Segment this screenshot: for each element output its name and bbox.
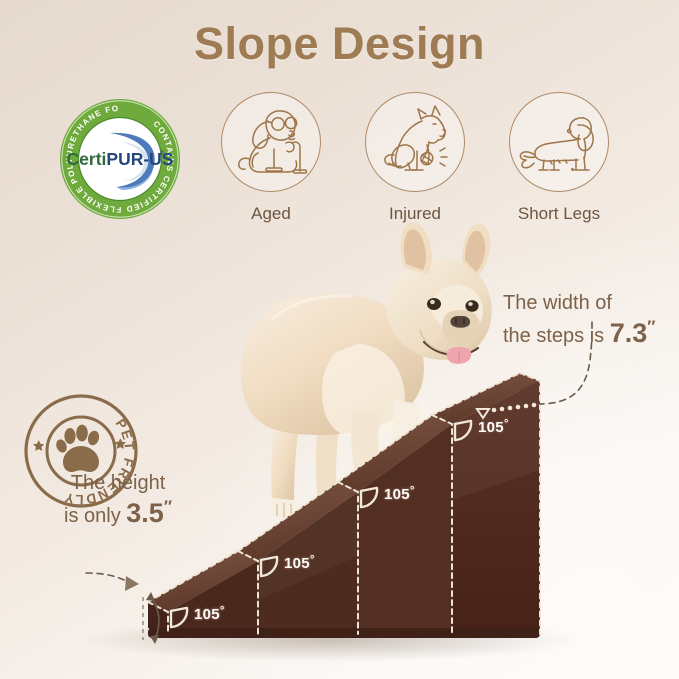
paw-print-icon: [54, 425, 100, 472]
feature-short-legs: Short Legs: [498, 92, 620, 224]
french-bulldog-photo: [241, 222, 492, 518]
feature-label: Injured: [354, 204, 476, 224]
angle-label-step3: 105°: [384, 485, 415, 503]
feature-icons-row: Aged: [210, 92, 620, 224]
height-arrow-up: [146, 592, 155, 601]
height-arrow-down: [150, 635, 159, 644]
feature-injured: Injured: [354, 92, 476, 224]
dachshund-short-legs-icon: [509, 92, 609, 192]
angle-label-step2: 105°: [284, 554, 315, 572]
width-callout: The width of the steps is 7.3″: [503, 290, 679, 352]
height-leader-arrow: [125, 576, 139, 591]
dog-with-bandaged-paw-icon: [365, 92, 465, 192]
infographic-canvas: Slope Design CONTAINS CERTIFIED FLEXIBLE…: [0, 0, 679, 679]
feature-label: Short Legs: [498, 204, 620, 224]
dog-with-glasses-and-cane-icon: [221, 92, 321, 192]
svg-text:®: ®: [160, 150, 165, 157]
step-width-marker: [477, 403, 536, 418]
width-callout-line1: The width of: [503, 290, 679, 316]
angle-label-step4: 105°: [478, 418, 509, 436]
height-callout: The height is only 3.5″: [28, 470, 208, 532]
height-measure-arc: [150, 596, 159, 640]
height-callout-line1: The height: [28, 470, 208, 496]
svg-text:CertiPUR-US: CertiPUR-US: [67, 149, 174, 169]
angle-label-step1: 105°: [194, 605, 225, 623]
height-callout-line2: is only 3.5″: [28, 496, 208, 532]
width-callout-line2: the steps is 7.3″: [503, 316, 679, 352]
product-shadow: [80, 618, 580, 662]
feature-label: Aged: [210, 204, 332, 224]
feature-aged: Aged: [210, 92, 332, 224]
height-leader-line: [86, 573, 130, 583]
certipur-us-badge: CONTAINS CERTIFIED FLEXIBLE POLYURETHANE…: [58, 97, 182, 221]
page-title: Slope Design: [0, 18, 679, 70]
angle-arc-markers: [171, 421, 471, 627]
